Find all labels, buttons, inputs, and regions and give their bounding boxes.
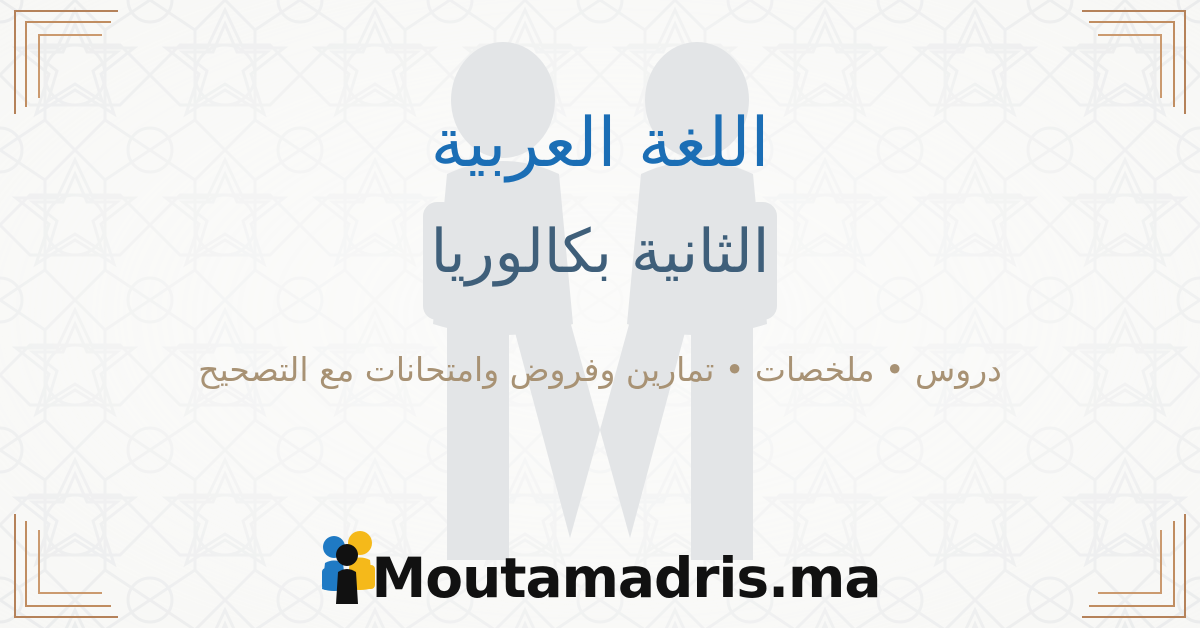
share-card: اللغة العربية الثانية بكالوريا دروس • مل… <box>0 0 1200 628</box>
page-subtitle: الثانية بكالوريا <box>431 221 770 284</box>
two-students-icon <box>320 530 378 604</box>
page-title: اللغة العربية <box>431 108 770 179</box>
site-logo: Moutamadris.ma <box>0 530 1200 606</box>
tagline: دروس • ملخصات • تمارين وفروض وامتحانات م… <box>198 350 1002 390</box>
site-logo-text: Moutamadris.ma <box>372 551 881 606</box>
